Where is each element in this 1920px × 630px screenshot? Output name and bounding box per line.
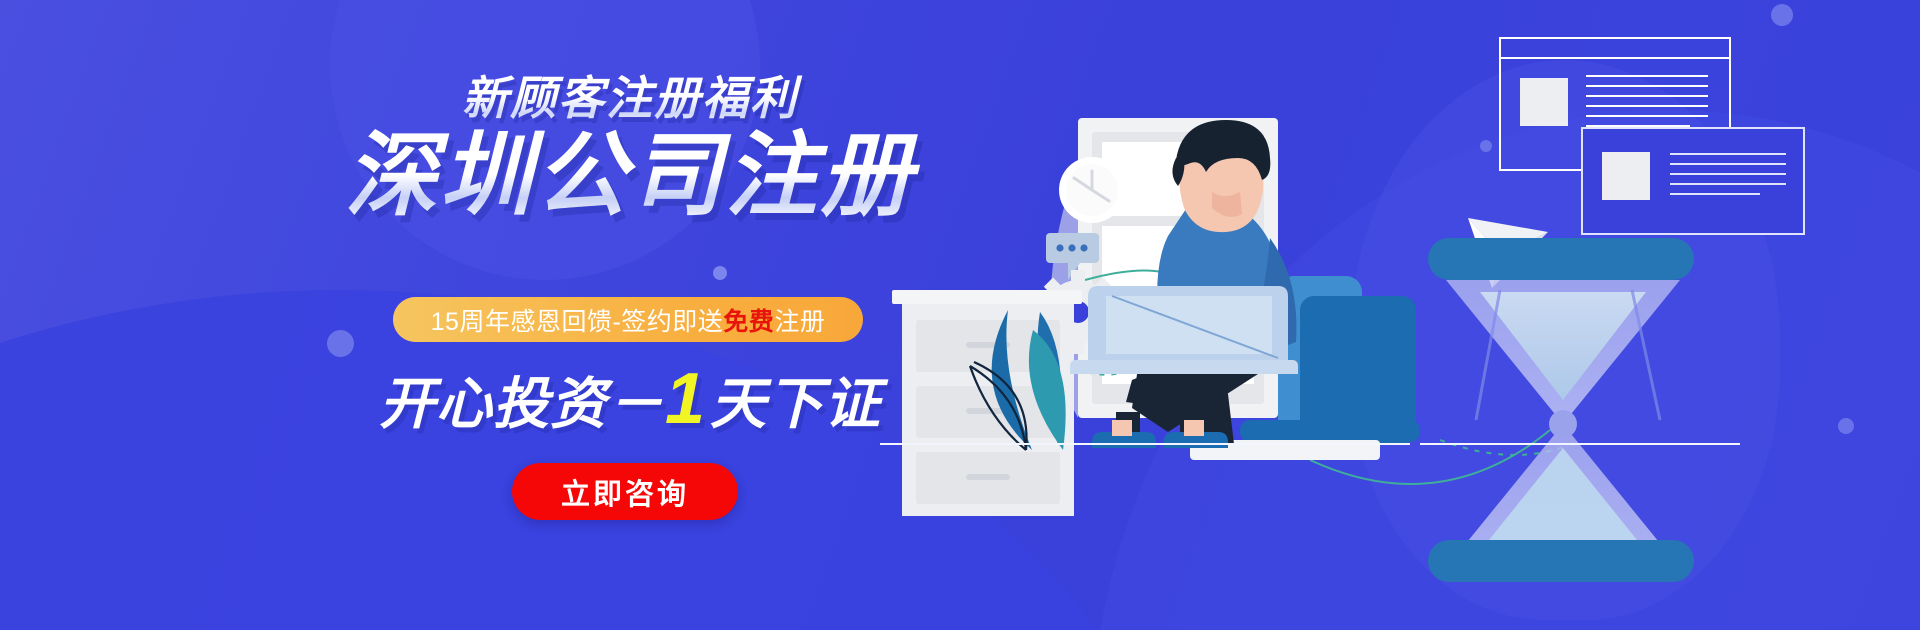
promo-banner: 新顾客注册福利 深圳公司注册 15周年感恩回馈-签约即送免费注册 开心投资－1天…: [0, 0, 1920, 630]
banner-headline: 深圳公司注册: [300, 128, 960, 225]
promo-pill: 15周年感恩回馈-签约即送免费注册: [393, 297, 863, 342]
promo-pill-lead: 15周年感恩回馈-签约即送: [431, 308, 724, 336]
consult-now-label: 立即咨询: [561, 471, 689, 513]
hourglass-icon: [1428, 238, 1694, 582]
promo-pill-text: 15周年感恩回馈-签约即送免费注册: [431, 302, 826, 338]
banner-copy: 新顾客注册福利 深圳公司注册 15周年感恩回馈-签约即送免费注册 开心投资－1天…: [0, 0, 960, 630]
tagline-dash: －: [607, 372, 661, 435]
wall-clock-icon: [1059, 157, 1125, 223]
promo-pill-tail: 注册: [774, 308, 825, 336]
banner-tagline: 开心投资－1天下证: [300, 358, 960, 440]
promo-pill-highlight: 免费: [723, 308, 774, 336]
laptop-icon: [1070, 286, 1298, 374]
banner-illustration: [880, 0, 1920, 630]
banner-eyebrow: 新顾客注册福利: [330, 62, 930, 128]
document-card-front: [1582, 128, 1804, 234]
tagline-prefix: 开心投资: [379, 372, 607, 435]
tagline-suffix: 天下证: [710, 372, 881, 435]
consult-now-button[interactable]: 立即咨询: [512, 463, 738, 520]
tagline-number: 1: [661, 359, 710, 439]
